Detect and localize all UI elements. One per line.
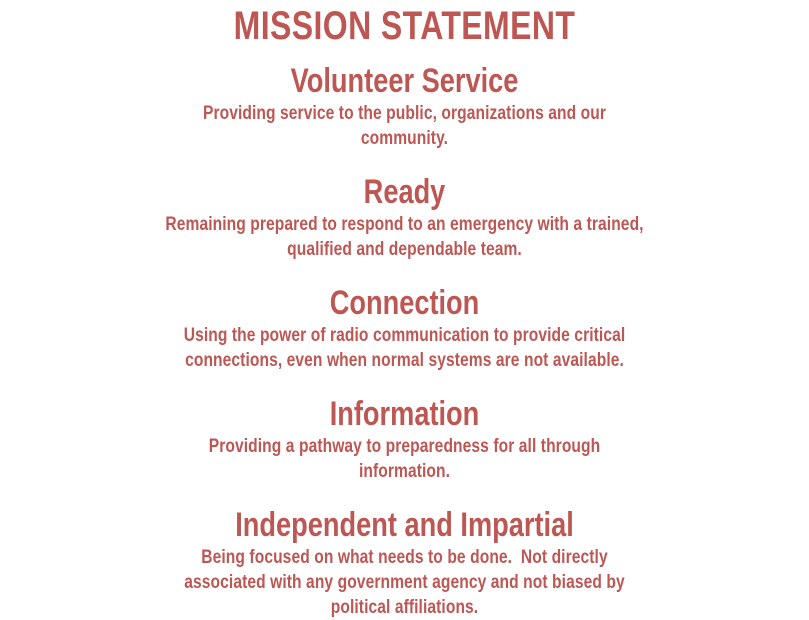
page-title: MISSION STATEMENT: [164, 4, 645, 48]
section-independent-and-impartial: Independent and Impartial Being focused …: [104, 506, 705, 620]
section-heading: Ready: [164, 173, 645, 211]
section-body: Providing service to the public, organiz…: [164, 101, 645, 151]
section-body: Providing a pathway to preparedness for …: [164, 434, 645, 484]
content-column: MISSION STATEMENT Volunteer Service Prov…: [104, 0, 705, 620]
section-heading: Connection: [164, 284, 645, 322]
section-ready: Ready Remaining prepared to respond to a…: [104, 173, 705, 262]
section-information: Information Providing a pathway to prepa…: [104, 395, 705, 484]
section-body: Using the power of radio communication t…: [164, 323, 645, 373]
section-body: Being focused on what needs to be done. …: [164, 545, 645, 620]
section-volunteer-service: Volunteer Service Providing service to t…: [104, 62, 705, 151]
section-heading: Independent and Impartial: [164, 506, 645, 544]
mission-statement-page: MISSION STATEMENT Volunteer Service Prov…: [0, 0, 809, 509]
section-body: Remaining prepared to respond to an emer…: [164, 212, 645, 262]
section-connection: Connection Using the power of radio comm…: [104, 284, 705, 373]
section-heading: Information: [164, 395, 645, 433]
section-heading: Volunteer Service: [164, 62, 645, 100]
